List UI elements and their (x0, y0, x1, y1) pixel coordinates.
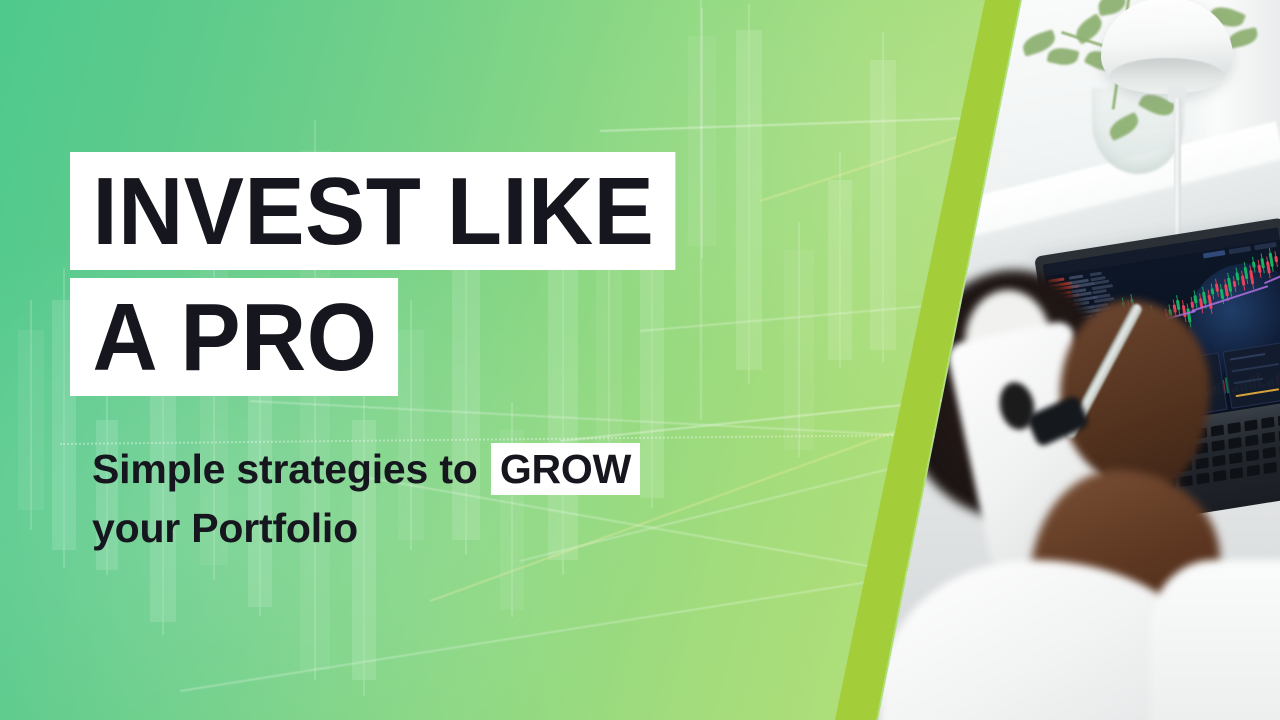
headline-line-1: INVEST LIKE (70, 152, 675, 270)
subtitle-suffix: your Portfolio (92, 505, 358, 551)
headline: INVEST LIKE A PRO (70, 152, 714, 396)
banner-canvas: INVEST LIKE A PRO Simple strategies to G… (0, 0, 1280, 720)
subtitle-prefix: Simple strategies to (92, 446, 489, 492)
subtitle-highlight-grow: GROW (491, 443, 640, 495)
headline-line-2: A PRO (70, 278, 398, 396)
text-content: INVEST LIKE A PRO Simple strategies to G… (0, 0, 1280, 720)
subtitle: Simple strategies to GROW your Portfolio (92, 440, 640, 559)
